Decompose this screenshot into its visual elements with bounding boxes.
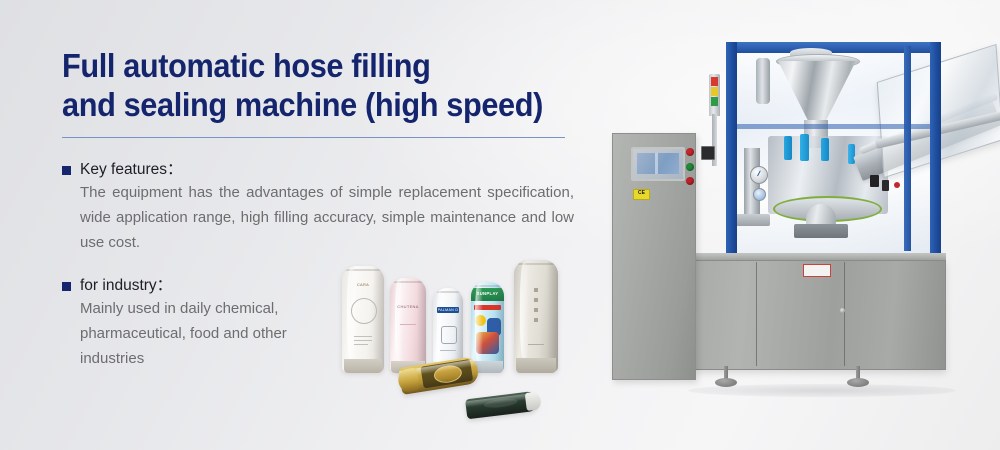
hmi-touchscreen[interactable] bbox=[631, 147, 685, 181]
control-cabinet[interactable]: CE bbox=[612, 133, 696, 380]
cabinet-door-seam bbox=[756, 262, 757, 366]
product-banner: Full automatic hose filling and sealing … bbox=[0, 0, 1000, 450]
key-features-heading-row: Key features： bbox=[62, 160, 574, 180]
page-title-line-1: Full automatic hose filling bbox=[62, 46, 546, 85]
industry-heading-row: for industry： bbox=[62, 276, 362, 296]
pneumatic-cylinder bbox=[784, 136, 792, 160]
nozzle-base-plate bbox=[736, 214, 770, 226]
frame-left-post bbox=[726, 42, 737, 260]
title-divider bbox=[62, 137, 565, 138]
pressure-gauge bbox=[750, 166, 768, 184]
frame-mid-beam bbox=[737, 124, 932, 129]
industry-heading: for industry： bbox=[80, 276, 172, 296]
start-button[interactable] bbox=[686, 163, 694, 171]
tube-white-cream: CARA bbox=[342, 266, 384, 372]
tube-taupe-large bbox=[514, 260, 558, 372]
turntable-base bbox=[794, 224, 848, 238]
ce-mark-text: CE bbox=[634, 190, 649, 197]
square-bullet-icon bbox=[62, 282, 71, 291]
cabinet-door-lock[interactable] bbox=[840, 308, 845, 313]
stop-button[interactable] bbox=[686, 177, 694, 185]
conveyor-indicator-light bbox=[894, 182, 900, 188]
warning-label bbox=[803, 264, 831, 277]
frame-right-post bbox=[930, 42, 941, 257]
secondary-gauge bbox=[753, 188, 766, 201]
tube-darkgreen-lying bbox=[465, 391, 539, 420]
tube-brand-label: PALMAN D bbox=[438, 308, 459, 312]
leveling-foot-pad bbox=[715, 378, 737, 387]
emergency-stop-button[interactable] bbox=[686, 148, 694, 156]
ce-mark-label: CE bbox=[633, 189, 650, 200]
leveling-foot-pad-2 bbox=[847, 378, 869, 387]
conveyor-switch-2[interactable] bbox=[882, 180, 889, 191]
pneumatic-cylinder bbox=[821, 138, 829, 161]
tower-signal-light bbox=[709, 74, 720, 116]
tower-light-yellow bbox=[711, 87, 718, 96]
industry-body: Mainly used in daily chemical, pharmaceu… bbox=[80, 296, 350, 371]
square-bullet-icon bbox=[62, 166, 71, 175]
tower-light-red bbox=[711, 77, 718, 86]
key-features-block: Key features： The equipment has the adva… bbox=[62, 160, 574, 255]
frame-mid-post bbox=[904, 46, 911, 251]
key-features-heading: Key features： bbox=[80, 160, 183, 180]
tower-light-green bbox=[711, 97, 718, 106]
conveyor-switch[interactable] bbox=[870, 175, 879, 187]
product-tubes-photo: CARA CHUTENA bbox=[338, 252, 588, 417]
industry-block: for industry： Mainly used in daily chemi… bbox=[62, 276, 362, 371]
tube-brand-label: CHUTENA bbox=[397, 304, 418, 309]
text-column: Full automatic hose filling and sealing … bbox=[62, 46, 582, 124]
tube-pink-cream: CHUTENA bbox=[390, 278, 426, 372]
power-switch[interactable] bbox=[701, 146, 715, 160]
page-title-line-2: and sealing machine (high speed) bbox=[62, 85, 546, 124]
feed-pipe bbox=[756, 58, 770, 104]
machine-photo: CE bbox=[608, 28, 1000, 400]
tube-brand-label: CARA bbox=[357, 282, 369, 287]
key-features-body: The equipment has the advantages of simp… bbox=[80, 180, 574, 255]
hmi-screen-surface[interactable] bbox=[637, 153, 679, 174]
cabinet-door-seam-2 bbox=[844, 262, 845, 366]
pneumatic-cylinder bbox=[800, 134, 809, 161]
